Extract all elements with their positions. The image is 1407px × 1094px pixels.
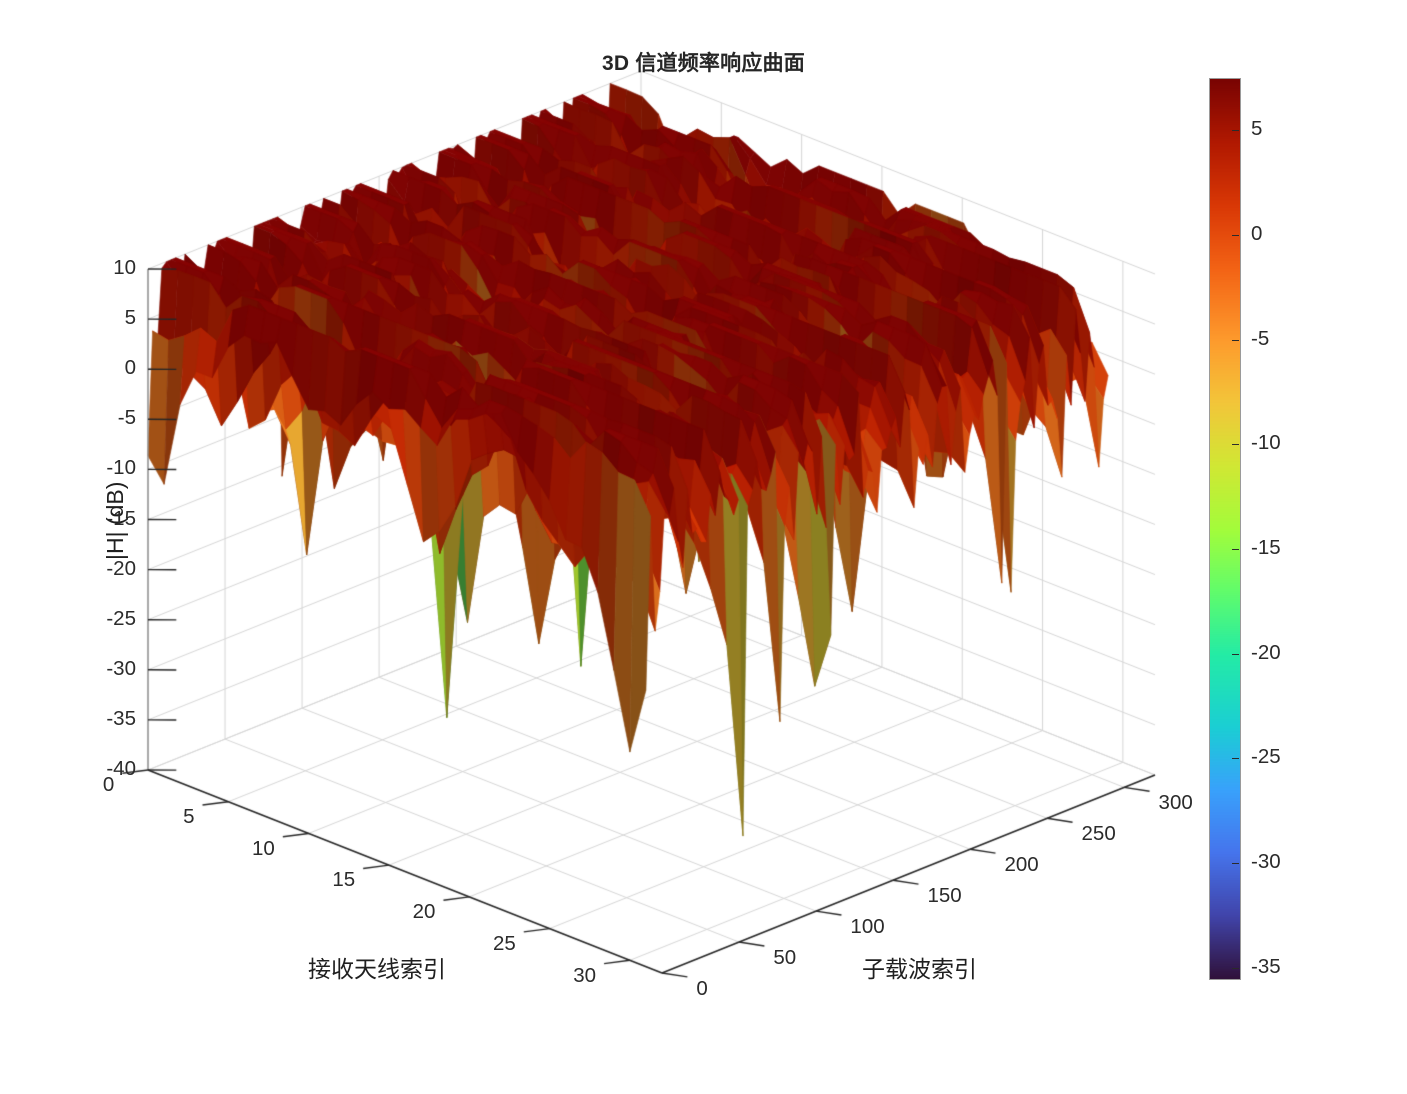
surface-plot-canvas[interactable] bbox=[0, 0, 1407, 1094]
figure-canvas: 3D 信道频率响应曲面 |H| (dB) 接收天线索引 子载波索引 1050-5… bbox=[0, 0, 1407, 1094]
